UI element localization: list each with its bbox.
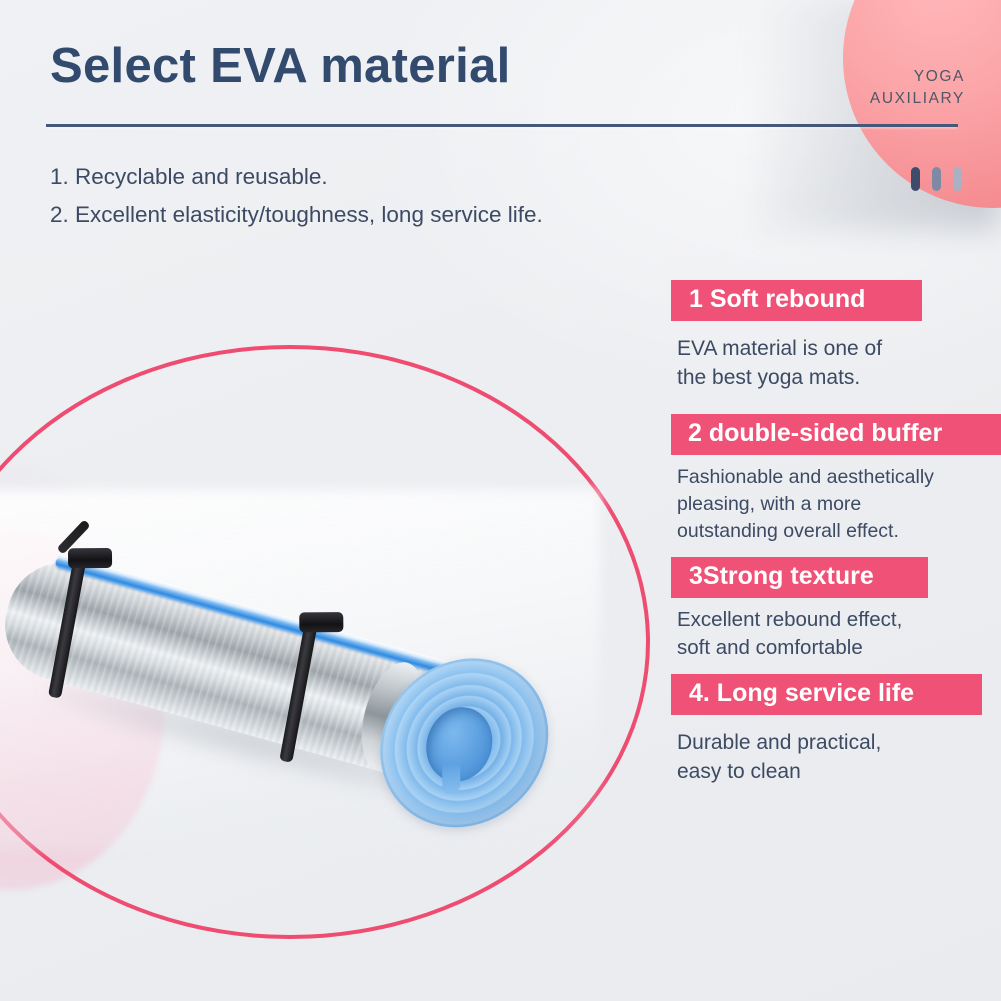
brand-wordmark: YOGA AUXILIARY bbox=[870, 66, 965, 110]
feature-card-3: 3Strong texture Excellent rebound effect… bbox=[671, 557, 1001, 662]
feature-card-1: 1 Soft rebound EVA material is one of th… bbox=[671, 280, 1001, 392]
feature-badge-1: 1 Soft rebound bbox=[671, 280, 922, 321]
feature-badge-4: 4. Long service life bbox=[671, 674, 982, 715]
brand-line-1: YOGA bbox=[870, 66, 965, 88]
feature-body-4: Durable and practical, easy to clean bbox=[677, 728, 1001, 786]
accent-bar-3 bbox=[953, 167, 962, 191]
brand-line-2: AUXILIARY bbox=[870, 88, 965, 110]
mat-roll-core-tail bbox=[442, 763, 460, 795]
feature-badge-3: 3Strong texture bbox=[671, 557, 928, 598]
feature-card-2: 2 double-sided buffer Fashionable and ae… bbox=[671, 414, 1001, 545]
feature-body-3: Excellent rebound effect, soft and comfo… bbox=[677, 606, 1001, 662]
accent-bar-group bbox=[911, 167, 962, 191]
feature-list: 1 Soft rebound EVA material is one of th… bbox=[671, 280, 1001, 792]
list-item: 1. Recyclable and reusable. bbox=[50, 158, 670, 196]
intro-list: 1. Recyclable and reusable. 2. Excellent… bbox=[50, 158, 670, 234]
feature-body-1: EVA material is one of the best yoga mat… bbox=[677, 334, 1001, 392]
accent-bar-1 bbox=[911, 167, 920, 191]
title-divider bbox=[46, 124, 958, 127]
list-item: 2. Excellent elasticity/toughness, long … bbox=[50, 196, 670, 234]
feature-badge-2: 2 double-sided buffer bbox=[671, 414, 1001, 455]
page-title: Select EVA material bbox=[50, 38, 511, 94]
feature-card-4: 4. Long service life Durable and practic… bbox=[671, 674, 1001, 786]
feature-body-2: Fashionable and aesthetically pleasing, … bbox=[677, 464, 1001, 545]
infographic-canvas: Select EVA material 1. Recyclable and re… bbox=[0, 0, 1001, 1001]
cable-tie-head-2 bbox=[299, 612, 343, 632]
product-photo bbox=[0, 430, 600, 850]
cable-tie-head-1 bbox=[68, 548, 112, 568]
accent-bar-2 bbox=[932, 167, 941, 191]
